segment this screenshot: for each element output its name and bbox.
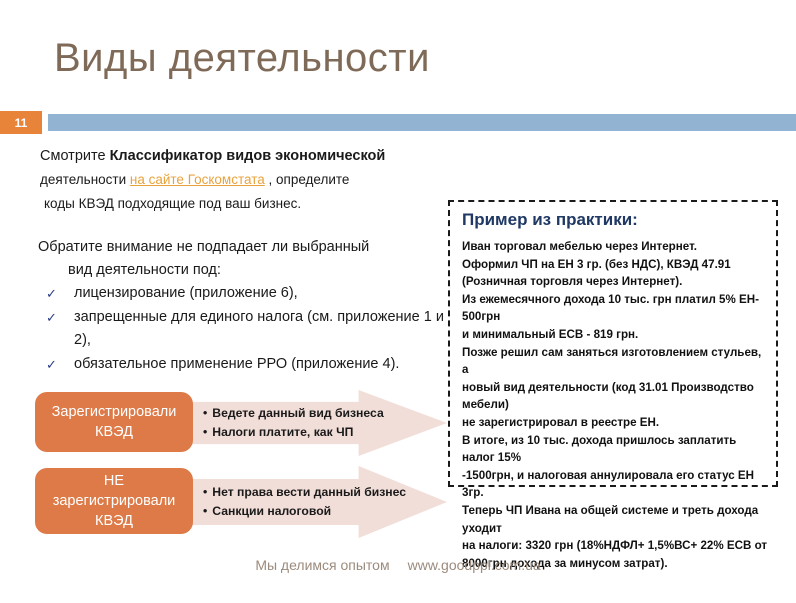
flow-pill-registered: Зарегистрировали КВЭД bbox=[35, 392, 193, 452]
flow-row-not-registered: •Нет права вести данный бизнес •Санкции … bbox=[35, 466, 447, 538]
example-line: В итоге, из 10 тыс. дохода пришлось запл… bbox=[462, 432, 768, 467]
flow-pill-not-registered: НЕ зарегистрировали КВЭД bbox=[35, 468, 193, 534]
example-line: (Розничная торговля через Интернет). bbox=[462, 273, 768, 291]
header-divider-rule bbox=[48, 114, 796, 131]
list-item: ✓ запрещенные для единого налога (см. пр… bbox=[42, 306, 454, 352]
bullet-icon: • bbox=[203, 406, 207, 420]
example-line: Оформил ЧП на ЕН 3 гр. (без НДС), КВЭД 4… bbox=[462, 256, 768, 274]
list-item-label: запрещенные для единого налога (см. прил… bbox=[74, 309, 444, 348]
intro-paragraph: Смотрите Классификатор видов экономическ… bbox=[40, 144, 440, 216]
intro-line-3: коды КВЭД подходящие под ваш бизнес. bbox=[40, 192, 440, 216]
intro-line-2: деятельности на сайте Госкомстата , опре… bbox=[40, 168, 440, 192]
flow-row-bullets: •Нет права вести данный бизнес •Санкции … bbox=[203, 483, 406, 521]
check-icon: ✓ bbox=[46, 306, 57, 329]
flow-row-bullets: •Ведете данный вид бизнеса •Налоги плати… bbox=[203, 404, 384, 442]
example-line: не зарегистрировал в реестре ЕН. bbox=[462, 414, 768, 432]
requirements-check-list: ✓ лицензирование (приложение 6), ✓ запре… bbox=[42, 282, 454, 377]
flow-row-registered: •Ведете данный вид бизнеса •Налоги плати… bbox=[35, 390, 447, 456]
example-line: на налоги: 3320 грн (18%НДФЛ+ 1,5%ВС+ 22… bbox=[462, 537, 768, 555]
goskomstat-link[interactable]: на сайте Госкомстата bbox=[130, 172, 265, 187]
bullet-icon: • bbox=[203, 485, 207, 499]
check-icon: ✓ bbox=[46, 353, 57, 376]
attention-line-1: Обратите внимание не подпадает ли выбран… bbox=[38, 239, 369, 255]
check-icon: ✓ bbox=[46, 282, 57, 305]
footer-site-url: www.goodppl.com.ua bbox=[408, 557, 541, 573]
example-line: и минимальный ЕСВ - 819 грн. bbox=[462, 326, 768, 344]
list-item-label: лицензирование (приложение 6), bbox=[74, 285, 298, 301]
footer-tagline: Мы делимся опытом bbox=[255, 557, 389, 573]
bullet-icon: • bbox=[203, 504, 207, 518]
example-line: новый вид деятельности (код 31.01 Произв… bbox=[462, 379, 768, 414]
page-number-badge: 11 bbox=[0, 111, 42, 134]
list-item-label: обязательное применение РРО (приложение … bbox=[74, 356, 399, 372]
list-item: •Налоги платите, как ЧП bbox=[203, 423, 384, 442]
list-item: ✓ обязательное применение РРО (приложени… bbox=[42, 353, 454, 376]
intro-bold-phrase: Классификатор видов экономической bbox=[110, 148, 386, 164]
page-title: Виды деятельности bbox=[54, 36, 430, 81]
example-line: Из ежемесячного дохода 10 тыс. грн плати… bbox=[462, 291, 768, 326]
practice-example-title: Пример из практики: bbox=[462, 210, 638, 230]
intro-line2-suffix: , определите bbox=[265, 172, 350, 187]
list-item-label: Ведете данный вид бизнеса bbox=[212, 406, 383, 420]
bullet-icon: • bbox=[203, 425, 207, 439]
attention-line-2: вид деятельности под: bbox=[38, 259, 448, 282]
practice-example-box: Пример из практики: Иван торговал мебель… bbox=[448, 200, 778, 487]
page-number-bar: 11 bbox=[0, 111, 796, 134]
list-item: •Нет права вести данный бизнес bbox=[203, 483, 406, 502]
list-item: •Ведете данный вид бизнеса bbox=[203, 404, 384, 423]
example-line: Иван торговал мебелью через Интернет. bbox=[462, 238, 768, 256]
intro-line-1: Смотрите Классификатор видов экономическ… bbox=[40, 144, 440, 168]
example-line: -1500грн, и налоговая аннулировала его с… bbox=[462, 467, 768, 502]
footer: Мы делимся опытомwww.goodppl.com.ua bbox=[0, 557, 796, 573]
list-item: ✓ лицензирование (приложение 6), bbox=[42, 282, 454, 305]
list-item-label: Нет права вести данный бизнес bbox=[212, 485, 406, 499]
attention-paragraph: Обратите внимание не подпадает ли выбран… bbox=[38, 236, 448, 282]
practice-example-body: Иван торговал мебелью через Интернет. Оф… bbox=[462, 238, 768, 572]
list-item: •Санкции налоговой bbox=[203, 502, 406, 521]
example-line: Теперь ЧП Ивана на общей системе и треть… bbox=[462, 502, 768, 537]
example-line: Позже решил сам заняться изготовлением с… bbox=[462, 344, 768, 379]
list-item-label: Налоги платите, как ЧП bbox=[212, 425, 353, 439]
intro-line2-prefix: деятельности bbox=[40, 172, 130, 187]
list-item-label: Санкции налоговой bbox=[212, 504, 331, 518]
intro-prefix: Смотрите bbox=[40, 148, 110, 164]
